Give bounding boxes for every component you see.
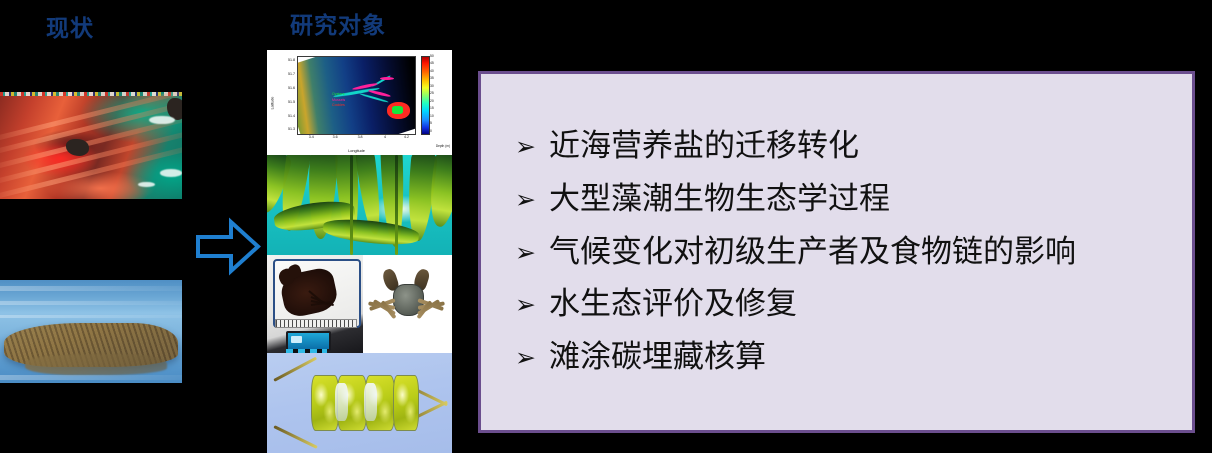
floating-brown-algae-mat-photo	[0, 280, 182, 383]
research-topics-panel: ➢ 近海营养盐的迁移转化 ➢ 大型藻潮生物生态学过程 ➢ 气候变化对初级生产者及…	[478, 71, 1195, 433]
kelp-image-content	[267, 155, 452, 255]
right-block-arrow	[195, 217, 261, 276]
colorbar-tick: 20	[430, 99, 434, 103]
diatom-image-content	[267, 353, 452, 453]
y-tick: 51.6	[288, 86, 295, 90]
chart-legend: Oysters Mussels Cockles	[332, 92, 345, 108]
bullet-text: 气候变化对初级生产者及食物链的影响	[549, 235, 1076, 270]
research-subject-image-column: Latitude 51.8 51.7 51.6 51.5 51.4 51.3	[267, 50, 452, 453]
bullet-arrow-icon: ➢	[515, 240, 549, 265]
chart-colorbar	[421, 56, 430, 135]
x-tick: 3.4	[309, 135, 314, 139]
bullet-arrow-icon: ➢	[515, 345, 549, 370]
bullet-text: 大型藻潮生物生态学过程	[549, 182, 890, 217]
chart-y-axis-label: Latitude	[270, 96, 274, 109]
chart-y-ticks: 51.8 51.7 51.6 51.5 51.4 51.3	[275, 56, 295, 135]
list-item: ➢ 近海营养盐的迁移转化	[515, 129, 1192, 164]
y-tick: 51.7	[288, 72, 295, 76]
chart-colorbar-ticks: 50 45 40 35 30 25 20 15 10 5 0	[430, 54, 448, 137]
chart-x-ticks: 3.4 3.6 3.8 4 4.2	[297, 135, 416, 143]
x-tick: 4	[384, 135, 386, 139]
y-tick: 51.4	[288, 114, 295, 118]
heading-research-subject: 研究对象	[290, 6, 386, 40]
colorbar-tick: 25	[430, 91, 434, 95]
bullet-arrow-icon: ➢	[515, 134, 549, 159]
red-tide-image-content	[0, 92, 182, 199]
chart-colorbar-label: Depth (m)	[436, 144, 450, 148]
colorbar-tick: 15	[430, 106, 434, 110]
underwater-kelp-forest-photo	[267, 155, 452, 255]
colorbar-tick: 10	[430, 114, 434, 118]
colorbar-tick: 5	[430, 121, 432, 125]
bullet-text: 水生态评价及修复	[549, 287, 797, 322]
legend-cockles: Cockles	[332, 103, 345, 108]
diatom-microscopy-photo	[267, 353, 452, 453]
bullet-text: 近海营养盐的迁移转化	[549, 129, 859, 164]
lobster-on-scanner-photo	[267, 255, 363, 353]
chart-plot-area: Oysters Mussels Cockles	[297, 56, 416, 135]
bullet-text: 滩涂碳埋藏核算	[549, 340, 766, 375]
crab-specimen-photo	[363, 255, 452, 353]
list-item: ➢ 滩涂碳埋藏核算	[515, 340, 1192, 375]
heading-current-status: 现状	[46, 9, 94, 43]
bullet-arrow-icon: ➢	[515, 187, 549, 212]
bullet-arrow-icon: ➢	[515, 292, 549, 317]
list-item: ➢ 大型藻潮生物生态学过程	[515, 182, 1192, 217]
colorbar-tick: 35	[430, 76, 434, 80]
x-tick: 3.6	[333, 135, 338, 139]
x-tick: 3.8	[358, 135, 363, 139]
crustacean-image-content	[267, 255, 452, 353]
x-tick: 4.2	[404, 135, 409, 139]
bathymetry-depth-raster	[297, 56, 416, 135]
red-tide-aerial-photo	[0, 92, 182, 199]
y-tick: 51.8	[288, 58, 295, 62]
colorbar-tick: 0	[430, 129, 432, 133]
y-tick: 51.5	[288, 100, 295, 104]
slide-canvas: 现状 研究对象	[0, 0, 1212, 453]
y-tick: 51.3	[288, 127, 295, 131]
colorbar-tick: 30	[430, 84, 434, 88]
colorbar-tick: 50	[430, 54, 434, 58]
chart-x-axis-label: Longitude	[297, 149, 416, 153]
bathymetry-chart: Latitude 51.8 51.7 51.6 51.5 51.4 51.3	[267, 50, 452, 155]
legend-oysters: Oysters	[332, 92, 345, 97]
crustacean-specimens-photo	[267, 255, 452, 353]
list-item: ➢ 水生态评价及修复	[515, 287, 1192, 322]
colorbar-tick: 40	[430, 69, 434, 73]
colorbar-tick: 45	[430, 61, 434, 65]
bathymetry-shellfish-map: Latitude 51.8 51.7 51.6 51.5 51.4 51.3	[267, 50, 452, 155]
list-item: ➢ 气候变化对初级生产者及食物链的影响	[515, 235, 1192, 270]
algae-mat-image-content	[0, 280, 182, 383]
